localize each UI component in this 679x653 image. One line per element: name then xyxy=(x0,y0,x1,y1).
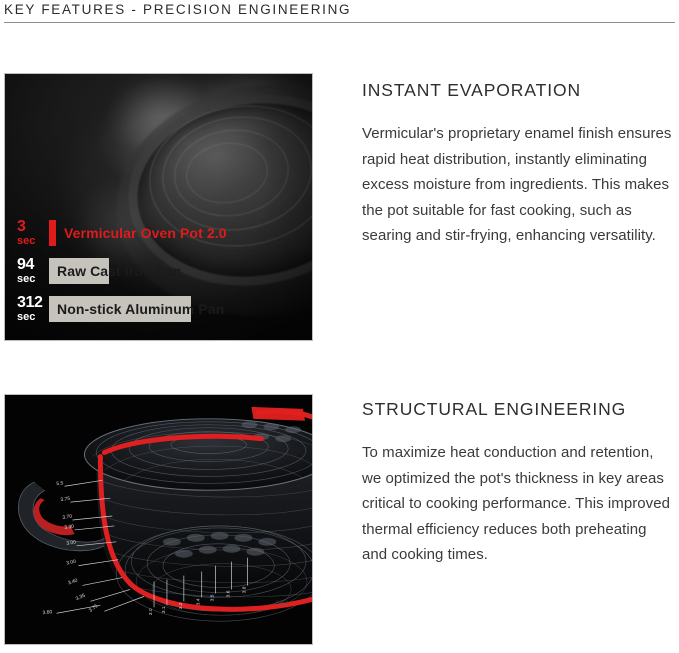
chart-row: 94 sec Raw Cast Iron Pan xyxy=(13,252,308,290)
svg-text:3.8: 3.8 xyxy=(241,586,247,593)
chart-row: 312 sec Non-stick Aluminum Pan xyxy=(13,290,308,328)
chart-value-aluminum: 312 sec xyxy=(13,295,49,323)
svg-text:3.2: 3.2 xyxy=(178,602,184,609)
chart-label-aluminum: Non-stick Aluminum Pan xyxy=(49,301,224,317)
svg-text:6|63: 6|63 xyxy=(275,600,289,607)
chart-row: 3 sec Vermicular Oven Pot 2.0 xyxy=(13,214,308,252)
feature-copy: INSTANT EVAPORATION Vermicular's proprie… xyxy=(362,79,672,249)
feature-body: To maximize heat conduction and retentio… xyxy=(362,440,672,568)
chart-bar-track: Vermicular Oven Pot 2.0 xyxy=(49,220,308,246)
chart-bar-track: Raw Cast Iron Pan xyxy=(49,258,308,284)
feature-heading: INSTANT EVAPORATION xyxy=(362,79,672,101)
cad-wireframe-svg: 5.5 3.75 3.70 3.30 3.00 3.00 3.40 3.35 3… xyxy=(5,395,312,644)
chart-value-unit: sec xyxy=(17,274,49,285)
chart-label-vermicular: Vermicular Oven Pot 2.0 xyxy=(49,225,227,241)
svg-text:3.5: 3.5 xyxy=(210,594,216,601)
chart-value-vermicular: 3 sec xyxy=(13,219,49,247)
feature-body: Vermicular's proprietary enamel finish e… xyxy=(362,121,672,249)
page-title: KEY FEATURES - PRECISION ENGINEERING xyxy=(4,0,675,20)
cad-diagram: 5.5 3.75 3.70 3.30 3.00 3.00 3.40 3.35 3… xyxy=(5,395,312,644)
feature-image-cad-wireframe: 5.5 3.75 3.70 3.30 3.00 3.00 3.40 3.35 3… xyxy=(4,394,313,645)
chart-value-number: 94 xyxy=(17,257,49,273)
chart-bar-track: Non-stick Aluminum Pan xyxy=(49,296,308,322)
chart-value-unit: sec xyxy=(17,312,49,323)
feature-page: KEY FEATURES - PRECISION ENGINEERING xyxy=(0,0,679,653)
svg-text:3.1: 3.1 xyxy=(161,606,167,613)
chart-value-number: 3 xyxy=(17,219,49,235)
feature-heading: STRUCTURAL ENGINEERING xyxy=(362,398,672,420)
svg-text:3.0: 3.0 xyxy=(148,608,154,615)
svg-text:3.4: 3.4 xyxy=(196,598,202,605)
chart-value-number: 312 xyxy=(17,295,49,311)
section-header: KEY FEATURES - PRECISION ENGINEERING xyxy=(4,0,675,23)
svg-text:5.5: 5.5 xyxy=(56,480,64,487)
chart-value-cast-iron: 94 sec xyxy=(13,257,49,285)
header-divider xyxy=(4,22,675,23)
chart-value-unit: sec xyxy=(17,236,49,247)
feature-copy: STRUCTURAL ENGINEERING To maximize heat … xyxy=(362,398,672,568)
svg-text:3.60: 3.60 xyxy=(42,609,52,616)
chart-label-cast-iron: Raw Cast Iron Pan xyxy=(49,263,182,279)
feature-image-steaming-pot: 3 sec Vermicular Oven Pot 2.0 94 sec xyxy=(4,73,313,341)
svg-text:3.6: 3.6 xyxy=(226,590,232,597)
evaporation-bar-chart: 3 sec Vermicular Oven Pot 2.0 94 sec xyxy=(13,214,308,328)
